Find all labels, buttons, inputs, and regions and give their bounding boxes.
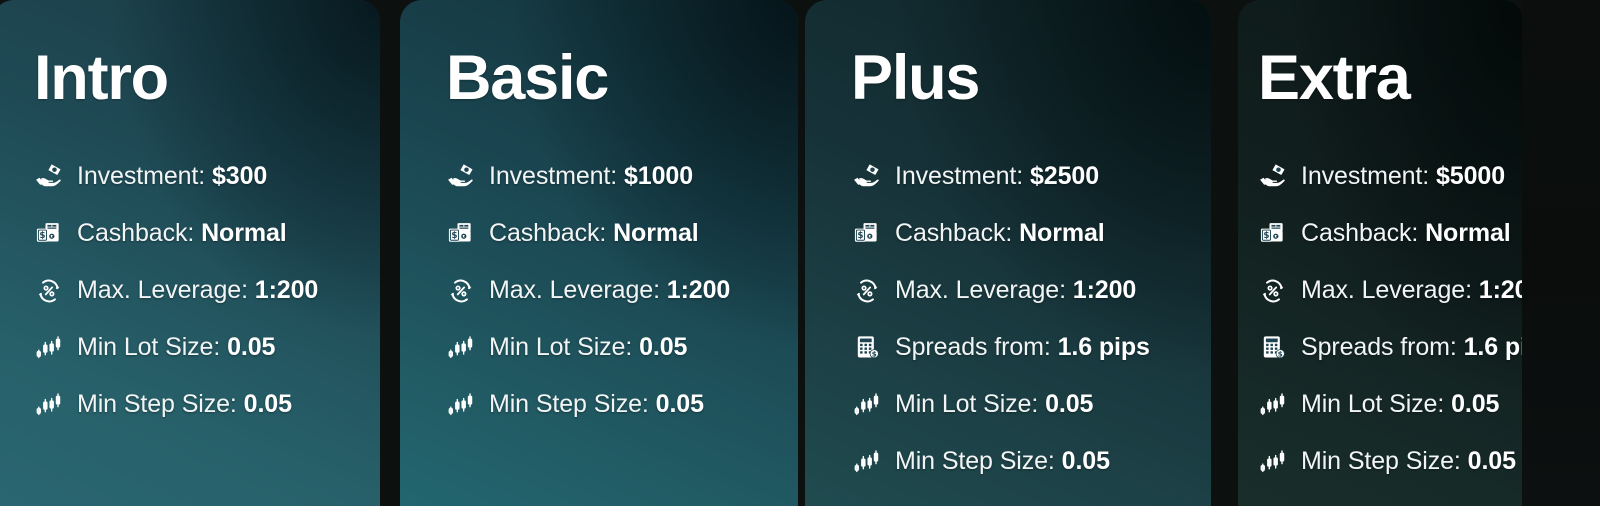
percent-refresh-icon (852, 276, 882, 306)
plan-title: Plus (851, 47, 979, 110)
feature-row: Min Lot Size: 0.05 (852, 376, 1150, 433)
banknotes-cashback-icon: $ (1258, 219, 1288, 249)
feature-row: Max. Leverage: 1:200 (446, 262, 730, 319)
plan-card-extra[interactable]: Extra Investment: $5000 $ (1238, 0, 1524, 506)
feature-value: 0.05 (1062, 447, 1110, 475)
candlestick-chart-icon (852, 390, 882, 420)
feature-value: $5000 (1436, 162, 1505, 190)
feature-text: Investment: $5000 (1301, 162, 1505, 191)
feature-text: Cashback: Normal (895, 219, 1105, 248)
feature-row: $ Cashback: Normal (446, 205, 730, 262)
feature-label: Min Step Size: (489, 390, 656, 418)
feature-label: Cashback: (77, 219, 201, 247)
feature-value: 0.05 (656, 390, 704, 418)
pricing-cards-stage: Intro Investment: $300 $ (0, 0, 1600, 506)
feature-value: 1:200 (1073, 276, 1136, 304)
feature-text: Investment: $1000 (489, 162, 693, 191)
svg-text:$: $ (1277, 349, 1282, 358)
feature-label: Cashback: (489, 219, 613, 247)
feature-value: 1.6 pips (1464, 333, 1524, 361)
plan-title: Basic (446, 47, 608, 110)
feature-text: Min Lot Size: 0.05 (489, 333, 687, 362)
feature-row: Min Lot Size: 0.05 (446, 319, 730, 376)
background-filler (1522, 0, 1600, 506)
feature-text: Max. Leverage: 1:200 (77, 276, 318, 305)
candlestick-chart-icon (852, 447, 882, 477)
feature-value: 0.05 (1468, 447, 1516, 475)
percent-refresh-icon (1258, 276, 1288, 306)
feature-row: $ Spreads from: 1.6 pips (1258, 319, 1524, 376)
feature-label: Min Lot Size: (1301, 390, 1451, 418)
feature-text: Min Step Size: 0.05 (77, 390, 292, 419)
feature-label: Max. Leverage: (895, 276, 1073, 304)
feature-label: Min Step Size: (895, 447, 1062, 475)
plan-card-intro[interactable]: Intro Investment: $300 $ (0, 0, 380, 506)
feature-value: 1.6 pips (1058, 333, 1150, 361)
feature-label: Spreads from: (1301, 333, 1464, 361)
feature-value: 0.05 (639, 333, 687, 361)
candlestick-chart-icon (1258, 390, 1288, 420)
feature-row: Min Lot Size: 0.05 (1258, 376, 1524, 433)
feature-text: Max. Leverage: 1:200 (895, 276, 1136, 305)
feature-row: Min Step Size: 0.05 (446, 376, 730, 433)
feature-label: Min Lot Size: (489, 333, 639, 361)
feature-list: Investment: $1000 $ Cashback: Normal (446, 148, 730, 433)
svg-text:$: $ (39, 230, 45, 240)
feature-value: Normal (1425, 219, 1511, 247)
feature-text: Cashback: Normal (1301, 219, 1511, 248)
feature-text: Min Lot Size: 0.05 (895, 390, 1093, 419)
feature-label: Investment: (489, 162, 624, 190)
feature-label: Min Step Size: (1301, 447, 1468, 475)
feature-label: Min Lot Size: (895, 390, 1045, 418)
feature-row: Min Step Size: 0.05 (34, 376, 318, 433)
feature-value: 1:200 (667, 276, 730, 304)
feature-row: $ Cashback: Normal (34, 205, 318, 262)
feature-label: Cashback: (895, 219, 1019, 247)
hand-holding-money-icon (446, 162, 476, 192)
feature-label: Investment: (77, 162, 212, 190)
feature-text: Min Step Size: 0.05 (489, 390, 704, 419)
feature-row: Min Lot Size: 0.05 (34, 319, 318, 376)
feature-row: Investment: $300 (34, 148, 318, 205)
feature-label: Investment: (1301, 162, 1436, 190)
percent-refresh-icon (446, 276, 476, 306)
feature-text: Investment: $2500 (895, 162, 1099, 191)
feature-row: Min Step Size: 0.05 (1258, 433, 1524, 490)
feature-row: Min Step Size: 0.05 (852, 433, 1150, 490)
feature-value: 0.05 (1451, 390, 1499, 418)
feature-text: Cashback: Normal (77, 219, 287, 248)
calculator-dollar-icon: $ (852, 333, 882, 363)
svg-text:$: $ (857, 230, 863, 240)
feature-value: 1:200 (1479, 276, 1524, 304)
feature-row: Investment: $1000 (446, 148, 730, 205)
feature-value: Normal (613, 219, 699, 247)
feature-text: Max. Leverage: 1:200 (1301, 276, 1524, 305)
svg-text:$: $ (1263, 230, 1269, 240)
svg-text:$: $ (871, 349, 876, 358)
feature-row: Max. Leverage: 1:200 (1258, 262, 1524, 319)
candlestick-chart-icon (446, 333, 476, 363)
feature-row: Max. Leverage: 1:200 (34, 262, 318, 319)
plan-card-basic[interactable]: Basic Investment: $1000 $ (400, 0, 798, 506)
feature-label: Min Step Size: (77, 390, 244, 418)
feature-value: $2500 (1030, 162, 1099, 190)
feature-row: $ Cashback: Normal (852, 205, 1150, 262)
feature-value: 0.05 (1045, 390, 1093, 418)
feature-label: Min Lot Size: (77, 333, 227, 361)
feature-row: Investment: $5000 (1258, 148, 1524, 205)
feature-value: Normal (201, 219, 287, 247)
candlestick-chart-icon (34, 333, 64, 363)
calculator-dollar-icon: $ (1258, 333, 1288, 363)
feature-text: Min Step Size: 0.05 (1301, 447, 1516, 476)
feature-row: $ Spreads from: 1.6 pips (852, 319, 1150, 376)
svg-text:$: $ (451, 230, 457, 240)
banknotes-cashback-icon: $ (446, 219, 476, 249)
feature-list: Investment: $5000 $ Cashback: Normal (1258, 148, 1524, 490)
hand-holding-money-icon (852, 162, 882, 192)
feature-value: 0.05 (244, 390, 292, 418)
feature-text: Min Lot Size: 0.05 (77, 333, 275, 362)
banknotes-cashback-icon: $ (34, 219, 64, 249)
feature-label: Cashback: (1301, 219, 1425, 247)
feature-text: Spreads from: 1.6 pips (1301, 333, 1524, 362)
feature-text: Max. Leverage: 1:200 (489, 276, 730, 305)
hand-holding-money-icon (1258, 162, 1288, 192)
plan-title: Intro (34, 47, 168, 110)
feature-text: Spreads from: 1.6 pips (895, 333, 1150, 362)
feature-label: Max. Leverage: (489, 276, 667, 304)
feature-value: $300 (212, 162, 267, 190)
feature-row: $ Cashback: Normal (1258, 205, 1524, 262)
feature-text: Cashback: Normal (489, 219, 699, 248)
candlestick-chart-icon (34, 390, 64, 420)
feature-value: Normal (1019, 219, 1105, 247)
plan-card-plus[interactable]: Plus Investment: $2500 $ (805, 0, 1211, 506)
feature-label: Investment: (895, 162, 1030, 190)
feature-row: Investment: $2500 (852, 148, 1150, 205)
feature-value: 0.05 (227, 333, 275, 361)
feature-text: Investment: $300 (77, 162, 267, 191)
feature-row: Max. Leverage: 1:200 (852, 262, 1150, 319)
banknotes-cashback-icon: $ (852, 219, 882, 249)
feature-value: 1:200 (255, 276, 318, 304)
hand-holding-money-icon (34, 162, 64, 192)
feature-label: Max. Leverage: (1301, 276, 1479, 304)
candlestick-chart-icon (1258, 447, 1288, 477)
plan-title: Extra (1258, 47, 1410, 110)
feature-text: Min Step Size: 0.05 (895, 447, 1110, 476)
feature-value: $1000 (624, 162, 693, 190)
feature-label: Max. Leverage: (77, 276, 255, 304)
feature-list: Investment: $300 $ Cashback: Normal (34, 148, 318, 433)
percent-refresh-icon (34, 276, 64, 306)
feature-text: Min Lot Size: 0.05 (1301, 390, 1499, 419)
feature-label: Spreads from: (895, 333, 1058, 361)
feature-list: Investment: $2500 $ Cashback: Normal (852, 148, 1150, 490)
candlestick-chart-icon (446, 390, 476, 420)
